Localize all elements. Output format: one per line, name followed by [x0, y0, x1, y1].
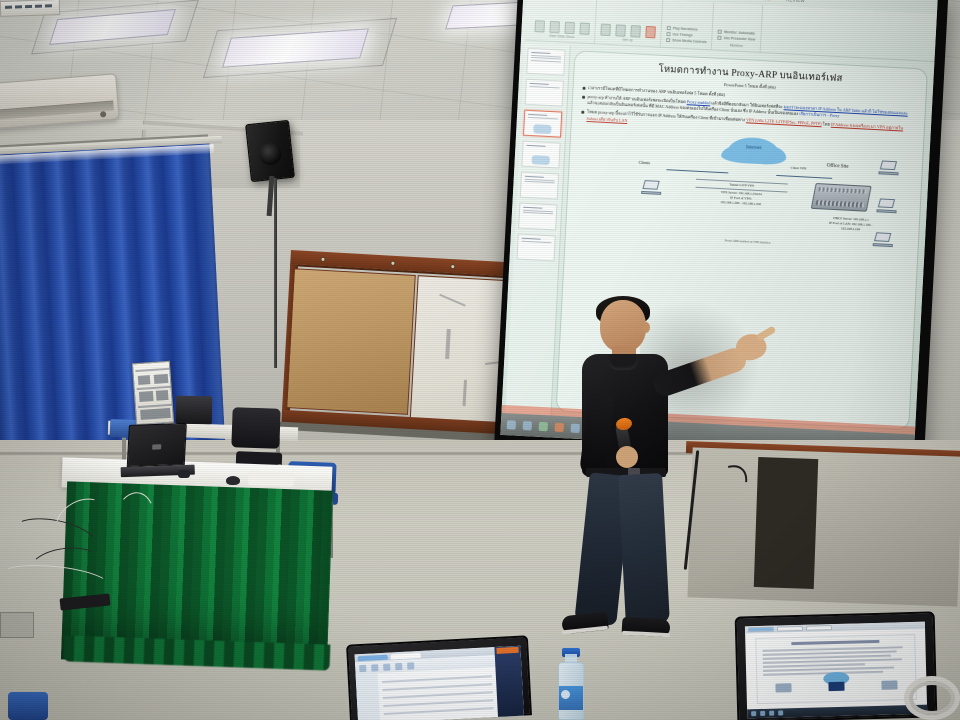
office-laptop-icon [873, 232, 894, 247]
ribbon-group-monitors[interactable]: Monitor: Automatic Use Presenter View Mo… [712, 2, 763, 51]
diagram-link [776, 175, 832, 179]
browser-icon[interactable] [760, 711, 765, 716]
network-diagram: Internet Clients Client VPN Office Site [574, 124, 914, 259]
monitor-icon[interactable] [718, 30, 722, 34]
mirrored-office-icon [881, 680, 897, 689]
toolbar-icon[interactable] [359, 664, 366, 671]
from-beginning-icon[interactable] [534, 20, 545, 33]
toolbar-icon[interactable] [371, 664, 378, 671]
thumbnail-diagram-icon [533, 124, 551, 134]
internet-cloud-icon: Internet [727, 136, 780, 165]
wall-speaker [245, 120, 295, 182]
powerpoint-icon[interactable] [778, 710, 783, 715]
set-up-slide-show-icon[interactable] [600, 24, 611, 37]
presenter-view-label: Use Presenter View [724, 36, 756, 42]
play-narrations-label: Play Narrations [673, 26, 698, 31]
browser-tab-active[interactable] [358, 654, 388, 661]
play-narrations-checkbox[interactable]: Play Narrations [667, 26, 708, 32]
hide-slide-icon[interactable] [615, 24, 626, 37]
laptop-screen[interactable] [745, 622, 927, 719]
bottle-label-mark-icon [561, 690, 570, 699]
show-media-controls-checkbox[interactable]: Show Media Controls [666, 38, 707, 44]
desk-nameplate [0, 0, 60, 17]
present-online-icon[interactable] [564, 22, 575, 35]
computer-mouse[interactable] [226, 476, 240, 485]
bullet-dot-icon [583, 87, 586, 90]
mirrored-client-icon [775, 683, 791, 692]
ribbon-group-label: Set Up [622, 38, 633, 43]
laptop-logo-icon [152, 444, 161, 449]
slide-thumbnail[interactable] [517, 233, 556, 261]
slide-thumbnail[interactable] [518, 203, 557, 231]
ribbon-group-set-up[interactable]: Set Up [595, 0, 663, 47]
classroom-photo-scene: INSERT DESIGN TRANSITIONS ANIMATIONS SLI… [0, 0, 960, 720]
tab-slide-show[interactable]: SLIDE SHOW [741, 0, 771, 1]
app-sidebar[interactable] [356, 673, 381, 720]
monitor-label: Monitor: Automatic [724, 30, 755, 36]
checkbox-icon[interactable] [718, 36, 722, 40]
paper-stack [248, 471, 294, 487]
start-icon[interactable] [751, 711, 756, 716]
presenter-head [600, 300, 646, 352]
ac-vent [0, 101, 114, 120]
presenter-ear [642, 322, 650, 333]
cork-notice-board[interactable] [286, 268, 416, 415]
from-current-slide-icon[interactable] [549, 21, 560, 34]
mirrored-slide [755, 634, 917, 704]
laptop-lid [127, 423, 187, 467]
mirrored-slide-title [792, 640, 880, 645]
bullet-part-highlight: เรียกว่าเป็นการ - Proxy [799, 111, 839, 118]
wall-outlet-box[interactable] [0, 612, 34, 638]
start-icon[interactable] [507, 420, 516, 429]
bullet-part-highlight: VPN (เช่น L2TP, L2TP/IPSec, PPPoE, PPTP) [746, 118, 822, 127]
water-bottle[interactable] [556, 648, 586, 720]
client-laptop-icon [641, 180, 662, 195]
record-slide-show-icon[interactable] [645, 26, 656, 39]
folder-icon[interactable] [539, 421, 548, 430]
presenter-collar [608, 354, 638, 370]
folder-icon[interactable] [769, 711, 774, 716]
speaker-cone-icon [258, 142, 282, 166]
audience-laptop-left[interactable] [346, 635, 532, 720]
checkbox-icon[interactable] [667, 26, 671, 30]
wall-air-conditioner [0, 73, 120, 129]
browser-tab[interactable] [391, 652, 421, 659]
tab[interactable] [777, 626, 803, 631]
router-icon [811, 183, 872, 212]
clients-label: Clients [639, 159, 651, 165]
toolbar-icon[interactable] [395, 662, 402, 669]
presenter-right-leg [618, 473, 670, 625]
mirrored-router-icon [828, 682, 844, 691]
presenter-view-checkbox[interactable]: Use Presenter View [718, 36, 756, 42]
slide-thumbnail-selected[interactable] [523, 110, 562, 138]
internet-label: Internet [728, 144, 780, 152]
custom-slide-show-icon[interactable] [579, 22, 590, 35]
office-site-label: Office Site [827, 163, 849, 169]
bullet-dot-icon [582, 96, 585, 99]
diagram-note: Proxy-ARP enabled on VPN interface [725, 238, 771, 244]
slide-thumbnail[interactable] [520, 172, 559, 200]
toolbar-icon[interactable] [407, 662, 414, 669]
office-chair-black[interactable] [231, 407, 280, 449]
ribbon-group-label: Monitors [730, 43, 743, 48]
power-adapter [178, 470, 190, 478]
office-computer-icon [878, 160, 899, 175]
use-timings-label: Use Timings [672, 32, 692, 37]
show-media-controls-label: Show Media Controls [672, 38, 707, 44]
toolbar-icon[interactable] [383, 663, 390, 670]
checkbox-icon[interactable] [666, 38, 670, 42]
laptop-screen[interactable] [355, 646, 524, 720]
presenter-pointing-finger [756, 325, 777, 341]
checkbox-icon[interactable] [666, 32, 670, 36]
lan-config-box: DHCP Server: 192.168.1.1 IP Pool of LAN:… [811, 215, 890, 234]
ribbon-group-label: Start Slide Show [549, 34, 574, 39]
browser-icon[interactable] [523, 421, 532, 430]
brochure-stand[interactable] [132, 361, 174, 425]
monitor-select[interactable]: Monitor: Automatic [718, 30, 756, 36]
slide-thumbnail[interactable] [525, 79, 564, 107]
demo-laptop[interactable] [121, 423, 189, 477]
coiled-cable[interactable] [904, 676, 960, 720]
side-panel [494, 646, 524, 717]
app-accent-bar [496, 647, 518, 654]
ribbon-group-start-slide-show[interactable]: Start Slide Show [529, 0, 597, 43]
rehearse-timings-icon[interactable] [630, 25, 641, 38]
presenter [556, 296, 786, 656]
tab-active[interactable] [748, 627, 774, 632]
tab[interactable] [806, 625, 832, 630]
thumbnail-diagram-icon [532, 155, 550, 165]
slide-thumbnail[interactable] [526, 48, 565, 76]
ac-indicator-icon [100, 111, 106, 117]
use-timings-checkbox[interactable]: Use Timings [666, 32, 707, 38]
printer-device[interactable] [176, 396, 212, 425]
ribbon-group-options[interactable]: Play Narrations Use Timings Show Media C… [661, 0, 715, 49]
diagram-link [666, 169, 728, 173]
blue-floor-object [8, 692, 48, 720]
vpn-config-box: Tunnel L2TP VPN VPN Server: 192.168.1.25… [695, 178, 788, 208]
bullet-part: โดย [822, 122, 832, 127]
presenter-raised-arm [651, 345, 750, 399]
office-laptop-icon [876, 198, 897, 213]
bullet-dot-icon [581, 111, 584, 114]
presenter-mic-hand [616, 446, 638, 468]
speaker-pole [274, 178, 277, 368]
tab-review[interactable]: REVIEW [786, 0, 805, 3]
nameplate-text [5, 4, 55, 9]
client-vpn-label: Client VPN [791, 165, 807, 170]
slide-thumbnail[interactable] [521, 141, 560, 169]
